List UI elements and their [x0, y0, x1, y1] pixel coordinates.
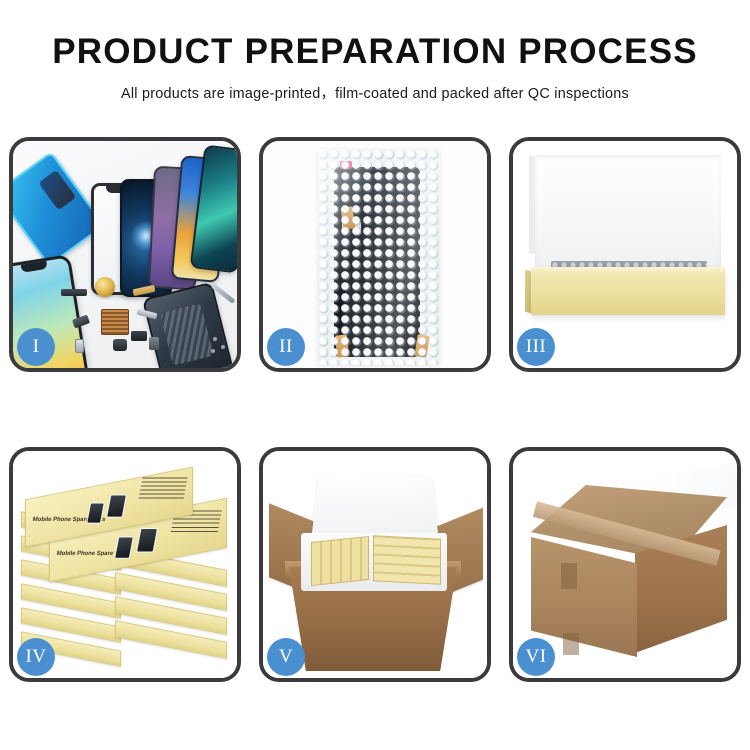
copper-shield-grid-icon [101, 309, 129, 335]
step-badge-2: II [267, 328, 305, 366]
page-title: PRODUCT PREPARATION PROCESS [0, 34, 750, 69]
vibrator-motor-icon [149, 337, 159, 350]
yellow-boxes-group-icon [373, 535, 441, 585]
bubble-wrap-bag-icon [318, 149, 440, 365]
step-badge-5: V [267, 638, 305, 676]
process-step-panel-1[interactable]: I [9, 137, 241, 372]
step-badge-1: I [17, 328, 55, 366]
step-badge-3: III [517, 328, 555, 366]
carton-tab-icon [563, 633, 579, 655]
page-subtitle: All products are image-printed，film-coat… [0, 82, 750, 103]
plastic-sheen-overlay [318, 149, 440, 365]
yellow-box-lip-icon [531, 267, 725, 276]
yellow-boxes-group-icon [311, 536, 369, 586]
screw-icon [211, 349, 215, 353]
process-step-panel-6[interactable]: VI [509, 447, 741, 682]
process-step-panel-5[interactable]: V [259, 447, 491, 682]
ic-chip-icon [131, 331, 147, 341]
sim-tray-icon [75, 339, 84, 353]
camera-module-icon [113, 339, 127, 351]
wireless-charging-coil-icon [95, 277, 115, 297]
process-step-panel-2[interactable]: II [259, 137, 491, 372]
carton-tab-icon [561, 563, 577, 589]
process-step-panel-4[interactable]: Mobile Phone Spare Parts Mobile Phone Sp… [9, 447, 241, 682]
speaker-module-icon [61, 289, 87, 296]
page-header: PRODUCT PREPARATION PROCESS All products… [0, 0, 750, 103]
process-panel-grid: I II [9, 137, 741, 682]
screw-icon [221, 345, 225, 349]
step-badge-4: IV [17, 638, 55, 676]
screw-icon [213, 337, 217, 341]
box-print-spec-lines [138, 477, 187, 499]
process-step-panel-3[interactable]: III [509, 137, 741, 372]
step-badge-6: VI [517, 638, 555, 676]
retail-box-stack-icon: Mobile Phone Spare Parts Mobile Phone Sp… [19, 467, 231, 667]
